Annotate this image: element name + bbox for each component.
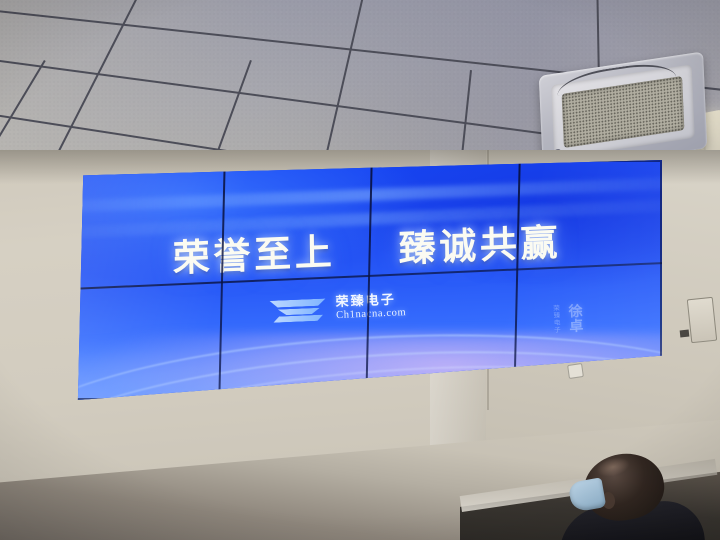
wall-mounted-control-box <box>687 297 717 343</box>
photo-scene: 荣誉至上 臻诚共赢 荣臻电子 Ch1nacna.com 荣臻电子 徐卓 <box>0 0 720 540</box>
wall-socket <box>567 363 584 379</box>
wall-box-bracket <box>680 330 690 338</box>
seated-person <box>556 452 706 540</box>
face-mask-icon <box>568 477 607 512</box>
